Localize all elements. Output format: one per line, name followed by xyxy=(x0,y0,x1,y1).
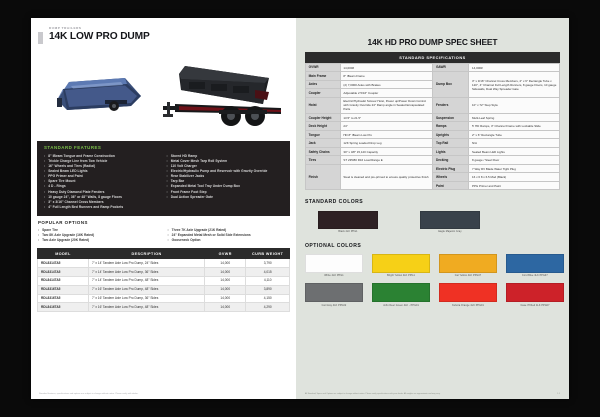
color-label: Cat Gray 4LK PPG02 xyxy=(322,305,347,308)
cell-gvwr: 14,000 xyxy=(205,285,246,294)
page-title: 14K LOW PRO DUMP xyxy=(49,31,296,42)
right-panel: 14K HD PRO DUMP SPEC SHEET STANDARD SPEC… xyxy=(296,18,569,399)
spec-value: 14,000# xyxy=(469,63,560,72)
bullet-icon: • xyxy=(168,238,169,243)
color-chip xyxy=(305,254,363,273)
left-footer-disclaimer: Standard features, specifications and op… xyxy=(31,393,296,399)
table-row: RDL8314TA5 7' x 14' Tandem Axle Low Pro … xyxy=(38,259,290,268)
product-photos xyxy=(37,44,290,136)
table-row: RDL8416TA5 7' x 16' Tandem Axle Low Pro … xyxy=(38,303,290,312)
cell-description: 7' x 16' Tandem Axle Low Pro Dump, 48" S… xyxy=(89,285,205,294)
spec-row: Jack 12K Spring Loaded Drop Leg Top Rail… xyxy=(306,139,560,148)
option-item: •Gooseneck Option xyxy=(168,238,290,243)
spec-row: Safety Chains 30" x 3/8" 15,120 Capacity… xyxy=(306,147,560,156)
option-label: Gooseneck Option xyxy=(172,238,201,243)
spec-row: Tongue HD 8" IBeam Low Pro Uprights 2" x… xyxy=(306,130,560,139)
table-row: RDL8414TA5 7' x 14' Tandem Axle Low Pro … xyxy=(38,277,290,286)
color-label: Kubota Orange 4LK PPG01 xyxy=(452,305,484,308)
popular-options-column-1: •Spare Tire •Two 8K Axle Upgrade (16K Ra… xyxy=(38,228,160,244)
spec-value: Adjustable 2 5/16" Coupler xyxy=(340,89,433,98)
spec-key: Decking xyxy=(433,156,469,165)
color-swatch[interactable]: Ford Blue 4LK PPG07 xyxy=(506,254,564,278)
spec-key: Fenders xyxy=(433,97,469,113)
color-swatch[interactable]: Cat Gray 4LK PPG02 xyxy=(305,283,363,307)
popular-options-heading: POPULAR OPTIONS xyxy=(38,221,289,225)
color-label: Cat Yellow 4LK PPG07 xyxy=(455,275,481,278)
cell-gvwr: 14,000 xyxy=(205,294,246,303)
color-swatch[interactable]: Kubota Orange 4LK PPG01 xyxy=(439,283,497,307)
spec-value: 5' HD Ramps, 3" Channel Frame with Locka… xyxy=(469,122,560,131)
right-footer-version: 1.1 xyxy=(557,393,560,396)
cell-gvwr: 14,000 xyxy=(205,259,246,268)
spec-value: 7 Way RV Blade Water Tight Plug xyxy=(469,164,560,173)
spec-value: Steel is cleaned and pre-primed to ensur… xyxy=(340,164,433,190)
column-header-curb-weight: CURB WEIGHT xyxy=(246,249,290,259)
spec-value: PPG Primer and Paint xyxy=(469,181,560,190)
cell-model: RDL8316TA5 xyxy=(38,285,89,294)
blue-dump-bed-image xyxy=(51,70,147,118)
model-table: MODEL DESCRIPTION GVWR CURB WEIGHT RDL83… xyxy=(37,248,290,312)
cell-model: RDL8314TA5 xyxy=(38,268,89,277)
spec-key: Jack xyxy=(306,139,341,148)
spec-key: Top Rail xyxy=(433,139,469,148)
spec-key: Wheels xyxy=(433,173,469,182)
spec-key: Paint xyxy=(433,181,469,190)
spec-value: 16 x 6 8 x 6.5 Mod (Black) xyxy=(469,173,560,182)
spec-sheet-page: DUMP TRAILERS 14K LOW PRO DUMP xyxy=(31,18,569,399)
spec-value: 8" IBeam Frame xyxy=(340,72,433,81)
table-row: RDL8314TA5 7' x 14' Tandem Axle Low Pro … xyxy=(38,268,290,277)
color-chip xyxy=(372,283,430,302)
cell-curb-weight: 4,290 xyxy=(246,303,290,312)
color-label: Case IH Red 4LK PPG07 xyxy=(520,305,549,308)
screenshot-viewport: DUMP TRAILERS 14K LOW PRO DUMP xyxy=(0,0,600,417)
spec-key: Main Frame xyxy=(306,72,341,81)
color-label: Bright Yellow 4LK PPG1 xyxy=(387,275,415,278)
spec-sheet-title: 14K HD PRO DUMP SPEC SHEET xyxy=(296,38,569,46)
color-swatch[interactable]: Black 4LK PPG1 xyxy=(318,211,378,234)
standard-colors-heading: STANDARD COLORS xyxy=(305,200,560,205)
specifications-table: GVWR 14,000# GAWR 14,000# Main Frame 8" … xyxy=(305,63,560,191)
color-label: John Deer Green 4LK - PPG01 xyxy=(383,305,419,308)
color-label: Ford Blue 4LK PPG07 xyxy=(522,275,548,278)
cell-model: RDL8414TA5 xyxy=(38,277,89,286)
feature-item: •4" Full Length Bed Runners and Ramp Poc… xyxy=(44,205,161,210)
feature-item: •Dual Action Spreader Gate xyxy=(167,195,284,200)
spec-value: Sealed Beam LED Lights xyxy=(469,147,560,156)
spec-key: Tires xyxy=(306,156,341,165)
spec-value: N/A xyxy=(469,139,560,148)
color-chip xyxy=(305,283,363,302)
color-chip xyxy=(506,254,564,273)
spec-value: 8 gauge / Steel Floor xyxy=(469,156,560,165)
black-dump-trailer-image xyxy=(145,60,290,132)
spec-row: Main Frame 8" IBeam Frame Dump Box 3" x … xyxy=(306,72,560,81)
spec-value: Multi-Leaf Spring xyxy=(469,113,560,122)
color-label: White 4LK PPG1 xyxy=(324,275,343,278)
standard-features-column-1: •8" IBeam Tongue and Frame Construction … xyxy=(44,154,161,210)
color-label: Eagle Majestic Gray xyxy=(438,231,461,234)
spec-key: GAWR xyxy=(433,63,469,72)
spec-value: 10" x 72" Step Style xyxy=(469,97,560,113)
spec-row: Finish Steel is cleaned and pre-primed t… xyxy=(306,164,560,173)
right-footer: All Standard, Specs and Options are subj… xyxy=(296,393,569,399)
spec-key: Hoist xyxy=(306,97,341,113)
table-row: RDL8316TA5 7' x 16' Tandem Axle Low Pro … xyxy=(38,294,290,303)
spec-key: Deck Height xyxy=(306,122,341,131)
standard-specifications-block: STANDARD SPECIFICATIONS GVWR 14,000# GAW… xyxy=(305,52,560,190)
cell-gvwr: 14,000 xyxy=(205,303,246,312)
spec-value: ST 235/80 R16 Load Range E xyxy=(340,156,433,165)
spec-row: Tires ST 235/80 R16 Load Range E Decking… xyxy=(306,156,560,165)
cell-curb-weight: 4,150 xyxy=(246,294,290,303)
color-chip xyxy=(318,211,378,229)
color-chip xyxy=(420,211,480,229)
color-chip xyxy=(439,254,497,273)
standard-features-column-2: •Stored HD Ramp •Metal Cover Mesh Tarp R… xyxy=(167,154,284,210)
spec-key: Ramps xyxy=(433,122,469,131)
option-label: Two Axle Upgrade (20K Rated) xyxy=(42,238,89,243)
spec-row: Hoist Electric/Hydraulic Scissor Hoist, … xyxy=(306,97,560,113)
spec-key: Coupler xyxy=(306,89,341,98)
bullet-icon: • xyxy=(167,195,168,200)
color-swatch[interactable]: Eagle Majestic Gray xyxy=(420,211,480,234)
color-chip xyxy=(506,283,564,302)
spec-key: Electric Plug xyxy=(433,164,469,173)
spec-value: 2" x 6" Rectangle Tube xyxy=(469,130,560,139)
cell-description: 7' x 16' Tandem Axle Low Pro Dump, 48" S… xyxy=(89,303,205,312)
left-panel: DUMP TRAILERS 14K LOW PRO DUMP xyxy=(31,18,296,399)
category-eyebrow: DUMP TRAILERS xyxy=(49,27,296,30)
standard-specifications-heading: STANDARD SPECIFICATIONS xyxy=(305,52,560,62)
spec-value: 12K Spring Loaded Drop Leg xyxy=(340,139,433,148)
left-header: DUMP TRAILERS 14K LOW PRO DUMP xyxy=(31,18,296,42)
optional-colors-block: OPTIONAL COLORS White 4LK PPG1 Bright Ye… xyxy=(305,244,560,313)
cell-description: 7' x 14' Tandem Axle Low Pro Dump, 24" S… xyxy=(89,259,205,268)
popular-options-block: POPULAR OPTIONS •Spare Tire •Two 8K Axle… xyxy=(37,221,290,243)
table-header-row: MODEL DESCRIPTION GVWR CURB WEIGHT xyxy=(38,249,290,259)
standard-features-heading: STANDARD FEATURES xyxy=(44,146,283,150)
spec-key: GVWR xyxy=(306,63,341,72)
spec-key: Dump Box xyxy=(433,72,469,98)
optional-colors-heading: OPTIONAL COLORS xyxy=(305,244,560,249)
color-chip xyxy=(372,254,430,273)
cell-curb-weight: 4,110 xyxy=(246,277,290,286)
color-swatch[interactable]: Case IH Red 4LK PPG07 xyxy=(506,283,564,307)
feature-label: Dual Action Spreader Gate xyxy=(171,195,213,200)
color-swatch[interactable]: Bright Yellow 4LK PPG1 xyxy=(372,254,430,278)
bullet-icon: • xyxy=(38,238,39,243)
column-header-gvwr: GVWR xyxy=(205,249,246,259)
spec-value: (2) 7,000# Axles with Brakes xyxy=(340,80,433,89)
cell-description: 7' x 16' Tandem Axle Low Pro Dump, 36" S… xyxy=(89,294,205,303)
spec-value: 30" x 3/8" 15,120 Capacity xyxy=(340,147,433,156)
feature-label: 4" Full Length Bed Runners and Ramp Pock… xyxy=(48,205,123,210)
color-swatch[interactable]: John Deer Green 4LK - PPG01 xyxy=(372,283,430,307)
color-label: Black 4LK PPG1 xyxy=(338,231,357,234)
spec-key: Uprights xyxy=(433,130,469,139)
cell-model: RDL8314TA5 xyxy=(38,259,89,268)
bullet-icon: • xyxy=(44,205,45,210)
cell-curb-weight: 4,015 xyxy=(246,268,290,277)
popular-options-column-2: •Three 7K Axle Upgrade (21K Rated) •24" … xyxy=(168,228,290,244)
spec-value: 3" x 3/16" Channel Cross Members, 2" x 6… xyxy=(469,72,560,98)
spec-key: Lights xyxy=(433,147,469,156)
cell-curb-weight: 3,890 xyxy=(246,285,290,294)
spec-key: Coupler Height xyxy=(306,113,341,122)
spec-value: 24" xyxy=(340,122,433,131)
spec-value: Electric/Hydraulic Scissor Hoist, Power … xyxy=(340,97,433,113)
column-header-model: MODEL xyxy=(38,249,89,259)
cell-curb-weight: 3,790 xyxy=(246,259,290,268)
cell-gvwr: 14,000 xyxy=(205,268,246,277)
cell-description: 7' x 14' Tandem Axle Low Pro Dump, 36" S… xyxy=(89,268,205,277)
spec-value: 13.5" to 21.5" xyxy=(340,113,433,122)
color-chip xyxy=(439,283,497,302)
spec-key: Finish xyxy=(306,164,341,190)
cell-description: 7' x 14' Tandem Axle Low Pro Dump, 48" S… xyxy=(89,277,205,286)
cell-gvwr: 14,000 xyxy=(205,277,246,286)
column-header-description: DESCRIPTION xyxy=(89,249,205,259)
cell-model: RDL8416TA5 xyxy=(38,303,89,312)
spec-key: Suspension xyxy=(433,113,469,122)
cell-model: RDL8316TA5 xyxy=(38,294,89,303)
spec-key: Tongue xyxy=(306,130,341,139)
spec-value: 14,000# xyxy=(340,63,433,72)
spec-row: Deck Height 24" Ramps 5' HD Ramps, 3" Ch… xyxy=(306,122,560,131)
spec-value: HD 8" IBeam Low Pro xyxy=(340,130,433,139)
spec-key: Safety Chains xyxy=(306,147,341,156)
spec-row: GVWR 14,000# GAWR 14,000# xyxy=(306,63,560,72)
right-footer-disclaimer: All Standard, Specs and Options are subj… xyxy=(305,393,440,396)
color-swatch[interactable]: White 4LK PPG1 xyxy=(305,254,363,278)
spec-key: Axles xyxy=(306,80,341,89)
table-row: RDL8316TA5 7' x 16' Tandem Axle Low Pro … xyxy=(38,285,290,294)
color-swatch[interactable]: Cat Yellow 4LK PPG07 xyxy=(439,254,497,278)
standard-colors-block: STANDARD COLORS Black 4LK PPG1 Eagle Maj… xyxy=(305,200,560,233)
standard-features-block: STANDARD FEATURES •8" IBeam Tongue and F… xyxy=(37,141,290,216)
option-item: •Two Axle Upgrade (20K Rated) xyxy=(38,238,160,243)
spec-row: Coupler Height 13.5" to 21.5" Suspension… xyxy=(306,113,560,122)
